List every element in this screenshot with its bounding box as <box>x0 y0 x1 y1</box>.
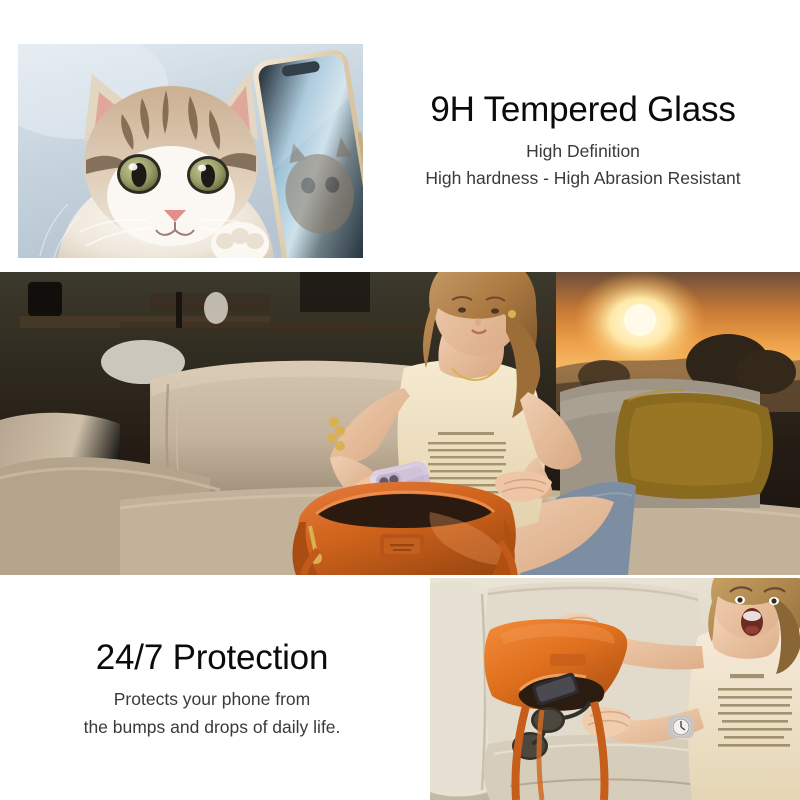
protection-subtitle-2: the bumps and drops of daily life. <box>10 713 414 741</box>
tempered-glass-subtitle-2: High hardness - High Abrasion Resistant <box>378 165 788 192</box>
protection-subtitle-1: Protects your phone from <box>10 685 414 713</box>
photo-woman-placing-phone-in-bag <box>0 272 800 575</box>
feature-text-tempered-glass: 9H Tempered Glass High Definition High h… <box>378 88 788 192</box>
photo-shocked-woman-dropping-bag <box>430 578 800 800</box>
protection-headline: 24/7 Protection <box>10 636 414 680</box>
photo-cat-with-phone <box>18 44 363 258</box>
feature-text-protection: 24/7 Protection Protects your phone from… <box>10 636 414 741</box>
product-feature-page: 9H Tempered Glass High Definition High h… <box>0 0 800 800</box>
shock-photo-illustration <box>430 578 800 800</box>
tempered-glass-subtitle-1: High Definition <box>378 138 788 165</box>
cat-photo-illustration <box>18 44 363 258</box>
tempered-glass-headline: 9H Tempered Glass <box>378 88 788 132</box>
sofa-photo-illustration <box>0 272 800 575</box>
